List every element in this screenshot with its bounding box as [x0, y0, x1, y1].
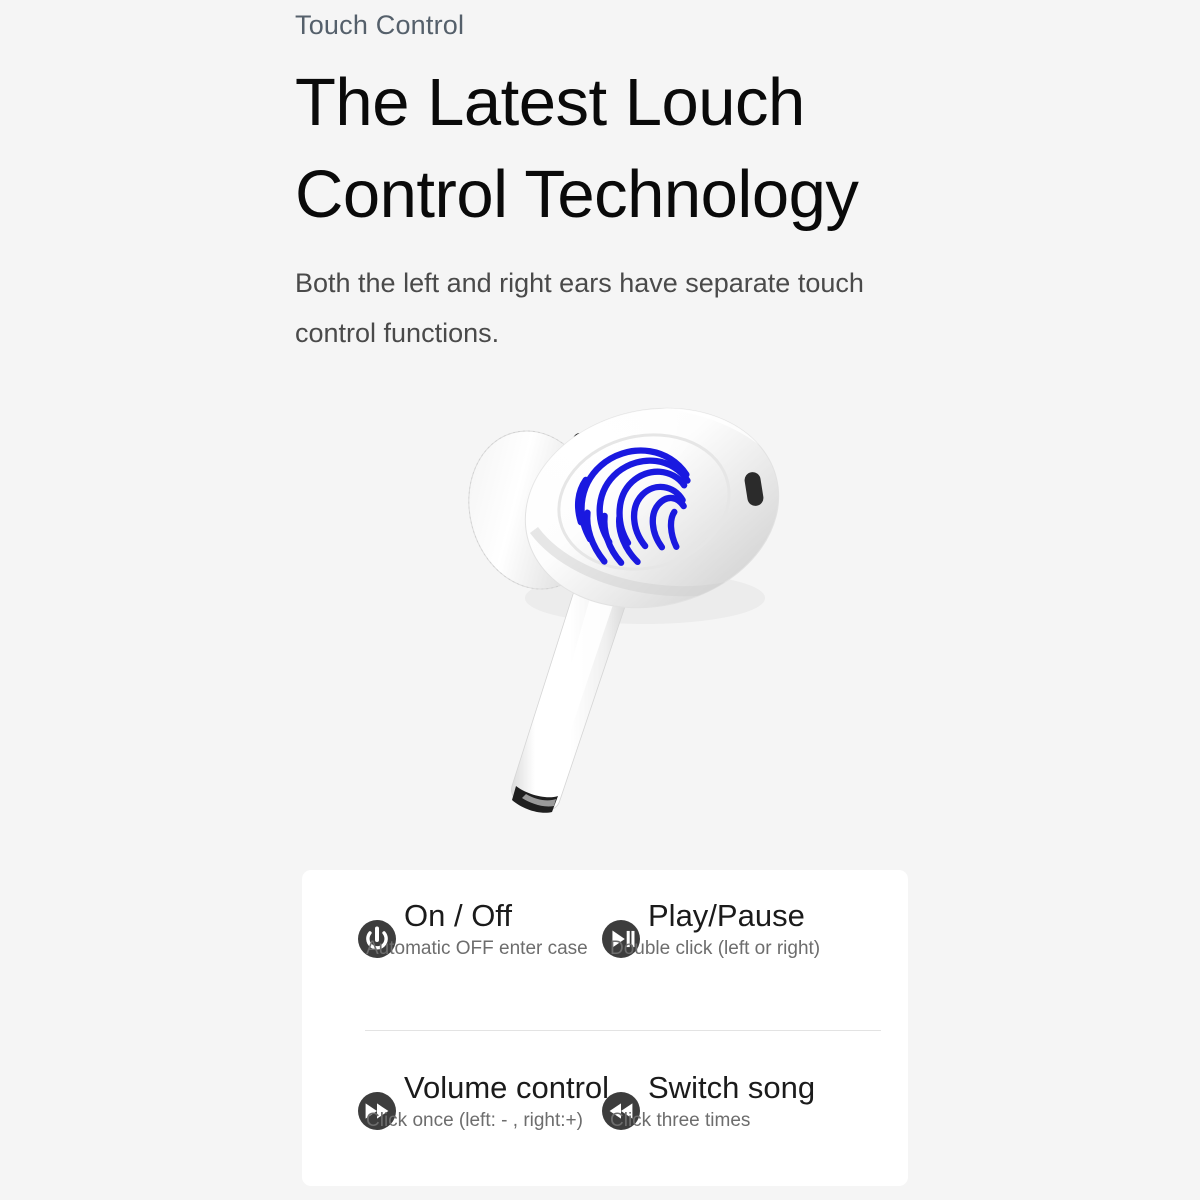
eyebrow-label: Touch Control: [295, 8, 995, 43]
product-feature-page: Touch Control The Latest Louch Control T…: [0, 0, 1200, 1200]
control-title: On / Off: [404, 898, 588, 934]
control-texts: On / Off Automatic OFF enter case: [404, 898, 588, 962]
control-subtitle: Double click (left or right): [610, 937, 820, 962]
header-text-block: Touch Control The Latest Louch Control T…: [295, 8, 995, 359]
earbud-graphic: [430, 380, 850, 850]
page-title: The Latest Louch Control Technology: [295, 57, 995, 241]
control-title: Play/Pause: [648, 898, 820, 934]
control-subtitle: Click three times: [610, 1109, 815, 1134]
control-title: Volume control: [404, 1070, 609, 1106]
control-item-switch-song[interactable]: Switch song Click three times: [602, 1070, 908, 1134]
control-texts: Volume control Click once (left: - , rig…: [404, 1070, 609, 1134]
controls-row-top: On / Off Automatic OFF enter case Play/P…: [302, 898, 908, 962]
control-title: Switch song: [648, 1070, 815, 1106]
page-subtitle: Both the left and right ears have separa…: [295, 259, 955, 359]
control-subtitle: Click once (left: - , right:+): [366, 1109, 609, 1134]
control-item-volume[interactable]: Volume control Click once (left: - , rig…: [302, 1070, 602, 1134]
control-texts: Play/Pause Double click (left or right): [648, 898, 820, 962]
card-divider: [365, 1030, 881, 1031]
control-item-play-pause[interactable]: Play/Pause Double click (left or right): [602, 898, 908, 962]
control-texts: Switch song Click three times: [648, 1070, 815, 1134]
earbud-illustration: [430, 380, 850, 850]
controls-row-bottom: Volume control Click once (left: - , rig…: [302, 1070, 908, 1134]
control-subtitle: Automatic OFF enter case: [366, 937, 588, 962]
controls-card: On / Off Automatic OFF enter case Play/P…: [302, 870, 908, 1186]
control-item-on-off[interactable]: On / Off Automatic OFF enter case: [302, 898, 602, 962]
